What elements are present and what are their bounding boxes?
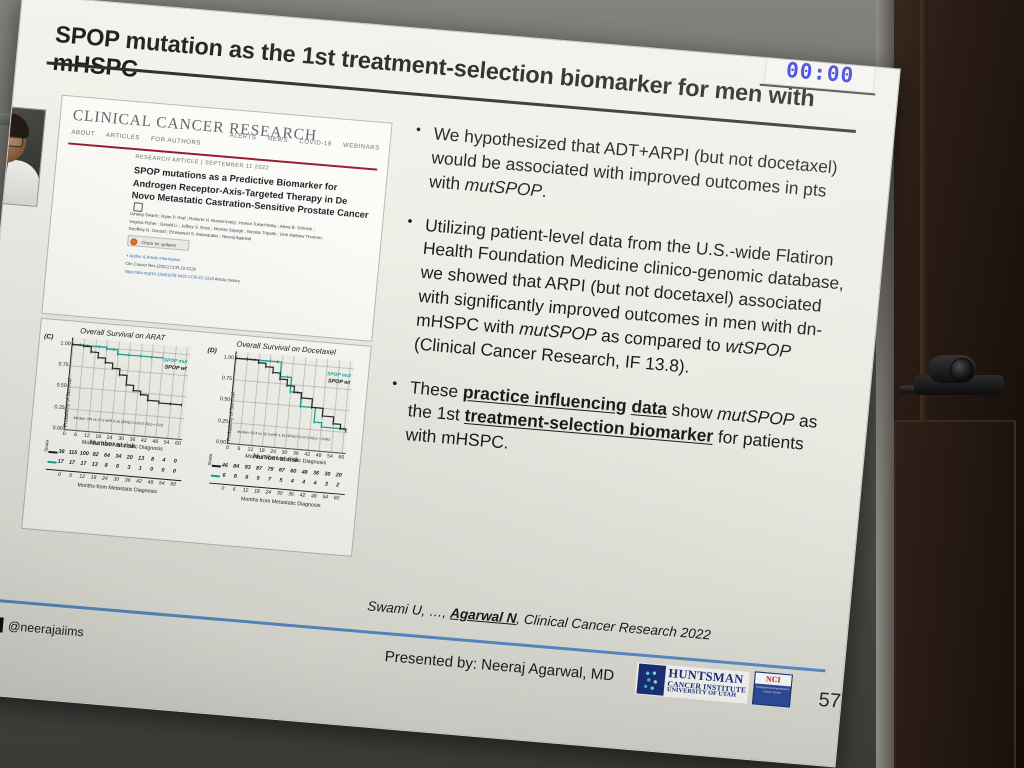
nar-x-tick: 42 bbox=[136, 478, 142, 484]
nar-cell: 20 bbox=[126, 455, 133, 461]
nar-cell: 100 bbox=[79, 451, 89, 458]
huntsman-mark-icon bbox=[637, 663, 667, 695]
km-curves bbox=[228, 351, 354, 453]
nar-x-tick: 54 bbox=[159, 480, 165, 486]
presentation-slide: SPOP mutation as the 1st treatment-selec… bbox=[0, 0, 901, 768]
nar-cell: 0 bbox=[173, 468, 177, 474]
slide-footer: X @neerajaiims Presented by: Neeraj Agar… bbox=[0, 604, 825, 727]
y-tick-label: 0.75 bbox=[222, 375, 233, 382]
panel-c-letter: (C) bbox=[44, 333, 54, 341]
km-curve-spop-mut bbox=[230, 358, 350, 429]
nar-x-tick: 6 bbox=[69, 473, 72, 479]
panel-d-plot: Probability of Survival SPOP mut SPOP wt… bbox=[227, 351, 354, 454]
km-curves bbox=[65, 338, 191, 440]
nav-articles[interactable]: ARTICLES bbox=[106, 132, 141, 142]
nar-cell: 6 bbox=[234, 474, 238, 480]
x-twitter-icon[interactable]: X bbox=[0, 616, 4, 632]
nar-x-tick: 36 bbox=[124, 477, 130, 483]
nar-cell: 13 bbox=[91, 462, 98, 468]
nar-cell: 4 bbox=[302, 479, 306, 485]
huntsman-cancer-institute-logo: HUNTSMAN CANCER INSTITUTE UNIVERSITY OF … bbox=[634, 662, 750, 703]
y-tick-label: 0.00 bbox=[216, 439, 227, 446]
handle-text: @neerajaiims bbox=[7, 619, 84, 639]
door-panel bbox=[894, 420, 1016, 768]
nar-x-tick: 30 bbox=[113, 476, 119, 482]
km-curve-spop-wt bbox=[68, 344, 187, 405]
nar-cell: 82 bbox=[92, 452, 99, 458]
nar-x-tick: 12 bbox=[242, 487, 248, 493]
nar-cell: 4 bbox=[313, 480, 317, 486]
nar-x-tick: 54 bbox=[322, 494, 328, 500]
bullet-item: These practice influencing data show mut… bbox=[384, 374, 841, 483]
nar-x-tick: 60 bbox=[333, 495, 339, 501]
projection-area: SPOP mutation as the 1st treatment-selec… bbox=[0, 0, 907, 768]
nar-cell: 17 bbox=[80, 461, 87, 467]
y-tick-label: 1.00 bbox=[224, 354, 235, 361]
nar-cell: 7 bbox=[268, 477, 272, 483]
nar-cell: 84 bbox=[233, 464, 240, 470]
nar-x-tick: 24 bbox=[265, 489, 271, 495]
nar-cell: 4 bbox=[162, 458, 166, 464]
nar-cell: 6 bbox=[222, 473, 226, 479]
nar-cell: 79 bbox=[267, 466, 274, 472]
nar-x-tick: 48 bbox=[311, 493, 317, 499]
nar-cell: 87 bbox=[256, 465, 263, 471]
nar-cell: 36 bbox=[313, 470, 320, 476]
logo-group: HUNTSMAN CANCER INSTITUTE UNIVERSITY OF … bbox=[634, 661, 792, 707]
nar-cell: 30 bbox=[324, 471, 331, 477]
nar-cell: 34 bbox=[115, 454, 122, 460]
nar-cell: 46 bbox=[222, 463, 229, 469]
y-tick-label: 0.25 bbox=[218, 418, 229, 425]
nar-cell: 20 bbox=[335, 472, 342, 478]
nar-cell: 8 bbox=[104, 463, 108, 469]
nar-cell: 60 bbox=[290, 468, 297, 474]
panel-d-letter: (D) bbox=[207, 347, 217, 355]
article-history-link[interactable]: Article history bbox=[215, 276, 241, 283]
nar-x-tick: 18 bbox=[90, 475, 96, 481]
nar-strata-key bbox=[211, 475, 220, 478]
nar-cell: 115 bbox=[68, 450, 77, 457]
nar-cell: 8 bbox=[151, 457, 155, 463]
nar-x-tick: 24 bbox=[102, 475, 108, 481]
nar-x-tick: 18 bbox=[254, 488, 260, 494]
nar-cell: 2 bbox=[336, 482, 340, 488]
kaplan-meier-figure: Overall Survival on ARAT (C) Probability… bbox=[21, 318, 372, 557]
nar-cell: 6 bbox=[116, 464, 120, 470]
camera-lens bbox=[950, 358, 974, 382]
panel-c: Overall Survival on ARAT (C) Probability… bbox=[25, 323, 203, 538]
panel-d-number-at-risk: Strata 468493877967604836302066657544432… bbox=[223, 463, 342, 493]
km-curve-spop-wt bbox=[230, 358, 352, 431]
nar-cell: 3 bbox=[127, 465, 131, 471]
nar-x-tick: 12 bbox=[79, 474, 85, 480]
nav-news[interactable]: NEWS bbox=[267, 135, 288, 144]
nar-cell: 0 bbox=[173, 459, 177, 465]
nav-about[interactable]: ABOUT bbox=[71, 129, 95, 138]
nar-cell: 17 bbox=[69, 460, 76, 466]
page-number: 57 bbox=[818, 689, 842, 714]
nar-strata-key bbox=[212, 465, 221, 468]
nav-covid19[interactable]: COVID-19 bbox=[299, 138, 332, 148]
social-handle[interactable]: X @neerajaiims bbox=[0, 616, 84, 639]
nar-x-tick: 60 bbox=[170, 481, 176, 487]
nar-x-tick: 0 bbox=[221, 486, 224, 492]
nar-x-tick: 30 bbox=[277, 490, 283, 496]
nci-logo: NCI Designated Comprehensive Cancer Cent… bbox=[752, 671, 793, 707]
nar-cell: 93 bbox=[244, 465, 251, 471]
y-tick-label: 0.50 bbox=[56, 383, 67, 390]
bullet-list: We hypothesized that ADT+ARPI (but not d… bbox=[383, 121, 866, 504]
huntsman-wordmark: HUNTSMAN CANCER INSTITUTE UNIVERSITY OF … bbox=[667, 667, 748, 700]
nar-cell: 3 bbox=[325, 481, 329, 487]
nar-x-tick: 6 bbox=[232, 487, 235, 493]
y-tick-label: 0.75 bbox=[58, 362, 69, 369]
nar-cell: 6 bbox=[245, 475, 249, 481]
y-tick-label: 0.50 bbox=[220, 397, 231, 404]
nav-for-authors[interactable]: FOR AUTHORS bbox=[151, 135, 202, 146]
y-tick-label: 1.00 bbox=[60, 340, 71, 347]
nar-cell: 48 bbox=[301, 469, 308, 475]
journal-article-screenshot: CLINICAL CANCER RESEARCH ABOUT ARTICLES … bbox=[41, 95, 392, 342]
nci-sublabel: Designated Comprehensive Cancer Center bbox=[754, 683, 791, 696]
nar-strata-key bbox=[47, 461, 56, 464]
nar-strata-key bbox=[48, 451, 57, 454]
y-tick-label: 0.25 bbox=[54, 404, 65, 411]
nar-cell: 0 bbox=[150, 467, 154, 473]
article-metadata: + Author & Article Information Clin Canc… bbox=[124, 252, 375, 297]
nar-cell: 5 bbox=[279, 477, 283, 483]
nar-cell: 38 bbox=[58, 449, 65, 455]
camera-lens-housing bbox=[928, 355, 976, 383]
webcam-icon bbox=[910, 355, 1006, 395]
nar-cell: 5 bbox=[256, 476, 260, 482]
doi-link[interactable]: https://doi.org/10.1158/1078-0432.CCR-22… bbox=[124, 269, 214, 282]
nar-cell: 64 bbox=[104, 453, 111, 459]
crossmark-icon bbox=[130, 238, 138, 246]
article-title-text: SPOP mutations as a Predictive Biomarker… bbox=[131, 165, 369, 220]
crossmark-badge[interactable]: Check for updates bbox=[127, 235, 190, 251]
nar-cell: 67 bbox=[279, 467, 286, 473]
nav-webinars[interactable]: WEBINARS bbox=[343, 142, 380, 152]
nar-cell: 17 bbox=[57, 459, 64, 465]
nar-x-tick: 48 bbox=[147, 479, 153, 485]
nar-x-tick: 0 bbox=[58, 472, 61, 478]
nar-cell: 13 bbox=[138, 455, 145, 461]
nar-x-tick: 42 bbox=[299, 492, 305, 498]
panel-c-plot: Probability of Survival SPOP mut SPOP wt… bbox=[64, 337, 191, 440]
bullet-item: Utilizing patient-level data from the U.… bbox=[393, 212, 857, 393]
presented-by: Presented by: Neeraj Agarwal, MD bbox=[384, 648, 615, 684]
crossmark-label: Check for updates bbox=[141, 240, 176, 248]
nar-x-tick: 36 bbox=[288, 491, 294, 497]
nar-cell: 0 bbox=[161, 467, 165, 473]
nar-cell: 4 bbox=[290, 478, 294, 484]
y-tick-label: 0.00 bbox=[52, 425, 63, 432]
panel-d: Overall Survival on Docetaxel (D) Probab… bbox=[188, 337, 366, 552]
nav-alerts[interactable]: ALERTS bbox=[229, 132, 256, 141]
nar-cell: 1 bbox=[138, 466, 142, 472]
room-scene: SPOP mutation as the 1st treatment-selec… bbox=[0, 0, 1024, 768]
panel-c-number-at-risk: Strata 381151008264342013840171717138631… bbox=[60, 449, 179, 479]
